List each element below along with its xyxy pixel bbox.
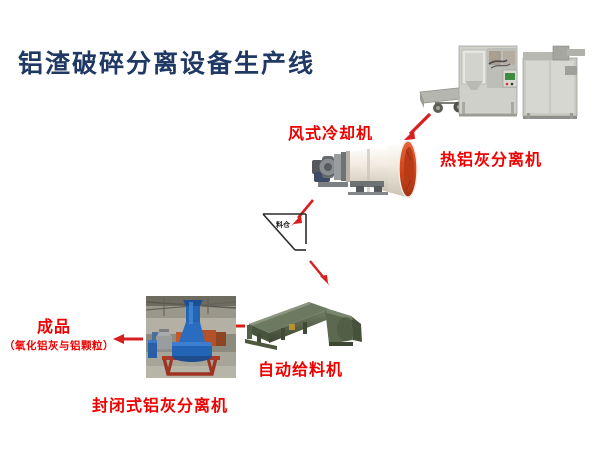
auto-feeder-photo [243,298,365,356]
label-closed-ash-separator: 封闭式铝灰分离机 [92,392,228,416]
page-title: 铝渣破碎分离设备生产线 [18,44,315,80]
label-hopper: 料仓 [276,220,290,230]
label-auto-feeder: 自动给料机 [258,356,343,380]
label-product-detail: （氧化铝灰与铝颗粒） [4,338,114,353]
arrow-separator-to-product-icon [112,331,144,351]
label-hot-ash-separator: 热铝灰分离机 [440,146,542,170]
closed-ash-separator-photo [146,296,236,378]
hopper-drawing [262,212,310,256]
hot-ash-separator-photo [415,40,593,120]
air-cooler-photo [310,140,418,202]
label-product: 成品 [37,313,71,337]
diagram-canvas: 铝渣破碎分离设备生产线 [0,0,600,450]
arrow-hopper-to-feeder-icon [306,258,340,300]
